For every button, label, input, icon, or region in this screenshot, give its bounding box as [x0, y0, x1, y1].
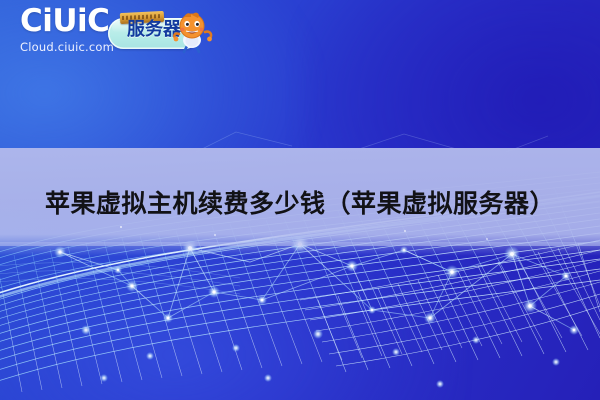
logo-wordmark: CiUiC: [20, 6, 114, 37]
server-badge: 服务器: [108, 10, 216, 54]
banner-image: 苹果虚拟主机续费多少钱（苹果虚拟服务器） CiUiC Cloud.ciuic.c…: [0, 0, 600, 400]
logo-domain-text: Cloud.ciuic.com: [20, 42, 114, 54]
orange-mascot-icon: [170, 10, 216, 54]
page-title: 苹果虚拟主机续费多少钱（苹果虚拟服务器）: [0, 184, 600, 220]
site-logo[interactable]: CiUiC Cloud.ciuic.com: [20, 6, 114, 54]
